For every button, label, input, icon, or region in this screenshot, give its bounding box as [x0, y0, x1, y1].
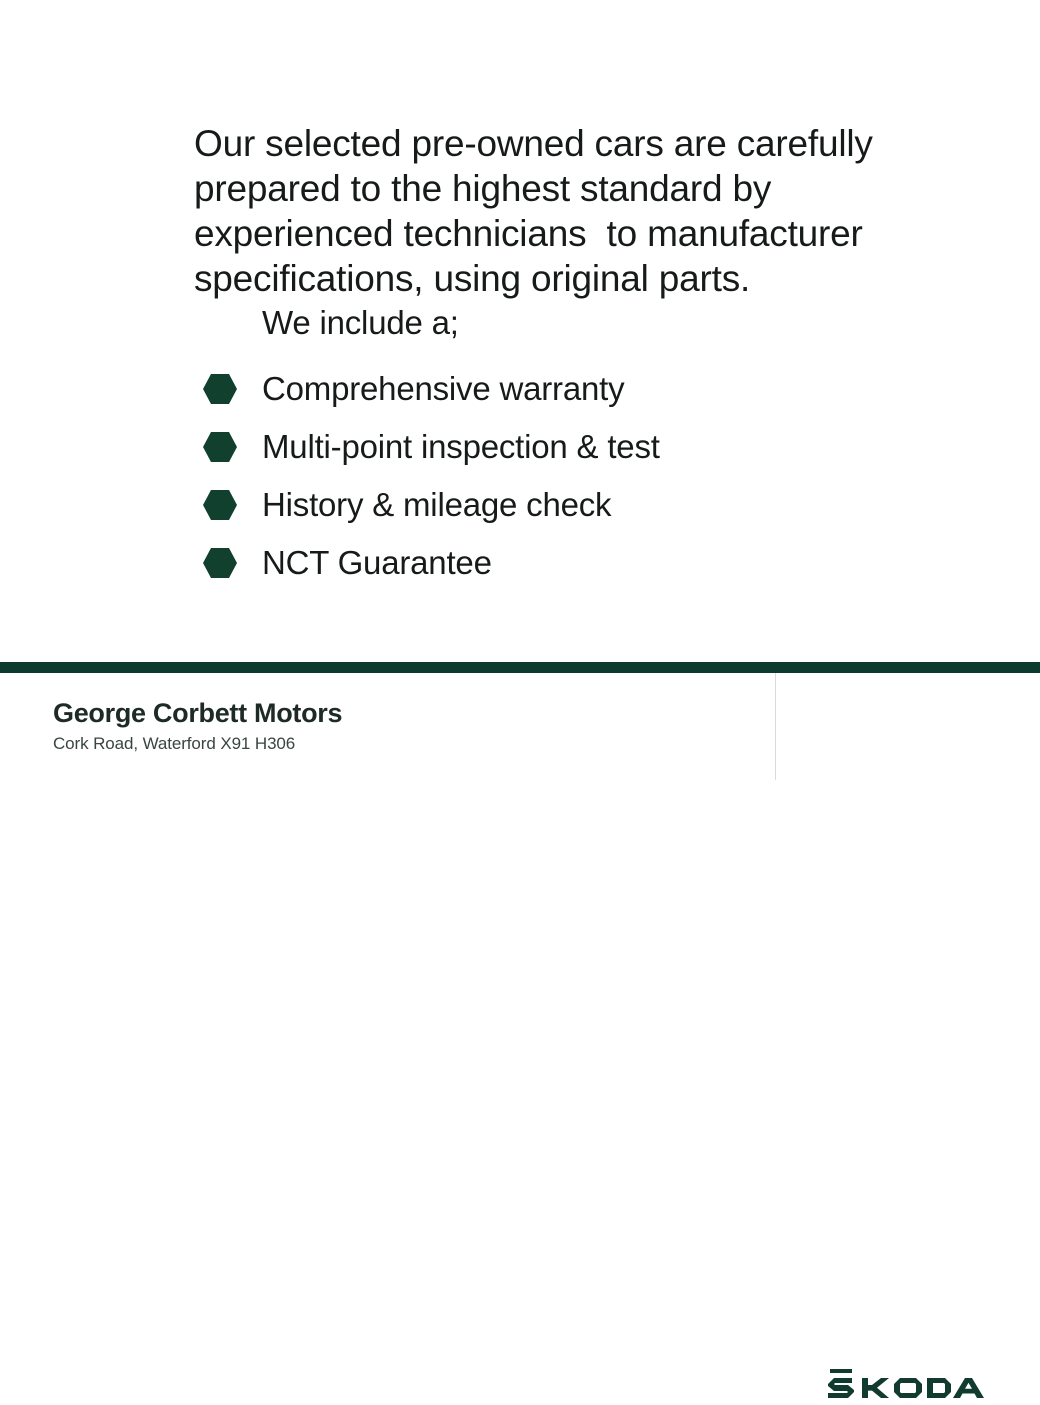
hexagon-bullet-icon	[202, 431, 238, 463]
brand-divider-bar	[0, 662, 1040, 673]
list-item-label: History & mileage check	[262, 486, 611, 524]
footer: George Corbett Motors Cork Road, Waterfo…	[0, 673, 1040, 780]
intro-paragraph: Our selected pre-owned cars are carefull…	[194, 121, 874, 301]
slide-canvas: Our selected pre-owned cars are carefull…	[0, 0, 1040, 780]
benefits-list: Comprehensive warranty Multi-point inspe…	[202, 360, 902, 592]
hexagon-bullet-icon	[202, 489, 238, 521]
list-item-label: Multi-point inspection & test	[262, 428, 660, 466]
list-item: History & mileage check	[202, 476, 902, 534]
hexagon-bullet-icon	[202, 373, 238, 405]
dealer-name: George Corbett Motors	[53, 697, 342, 729]
include-lead-text: We include a;	[262, 303, 459, 343]
dealer-address: Cork Road, Waterford X91 H306	[53, 733, 342, 754]
list-item-label: Comprehensive warranty	[262, 370, 624, 408]
list-item: NCT Guarantee	[202, 534, 902, 592]
dealer-info: George Corbett Motors Cork Road, Waterfo…	[53, 697, 342, 754]
list-item: Multi-point inspection & test	[202, 418, 902, 476]
list-item: Comprehensive warranty	[202, 360, 902, 418]
footer-vertical-divider	[775, 673, 776, 780]
hexagon-bullet-icon	[202, 547, 238, 579]
list-item-label: NCT Guarantee	[262, 544, 492, 582]
skoda-wordmark-logo	[826, 1367, 986, 1405]
